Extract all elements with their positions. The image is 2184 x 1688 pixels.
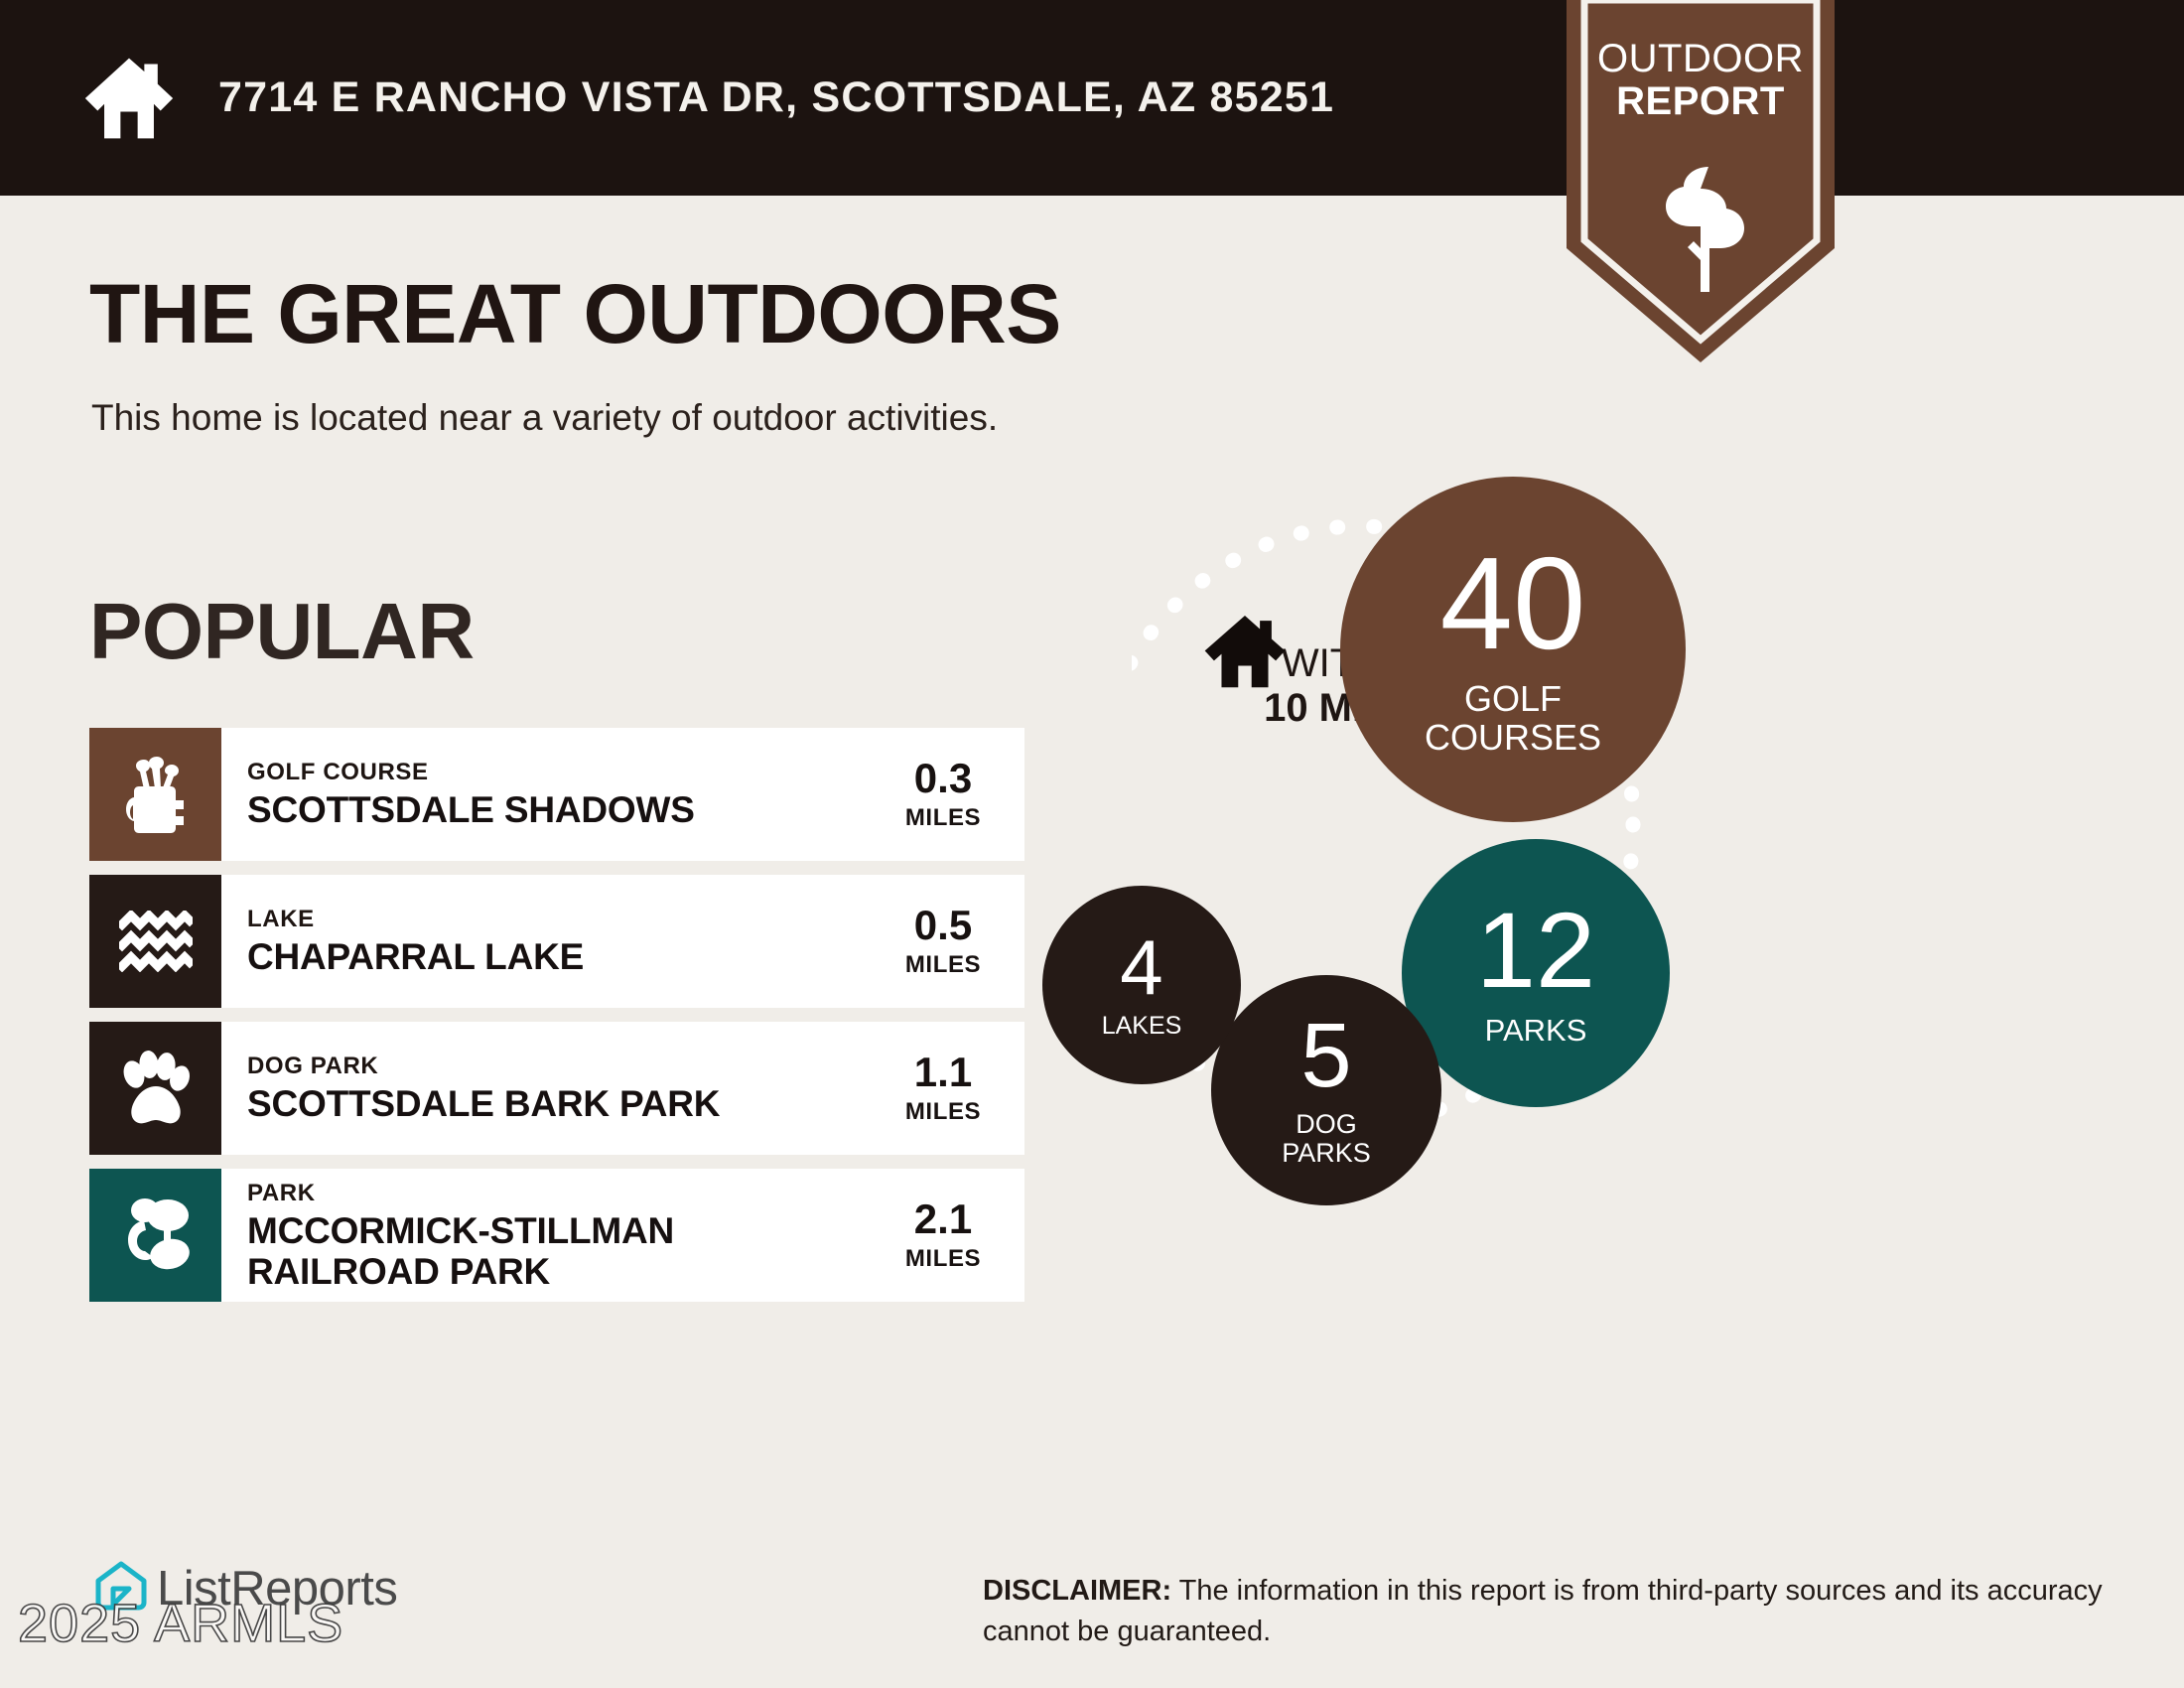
poi-distance: 0.3 MILES [884,758,1021,832]
stat-count: 12 [1476,900,1595,1002]
stat-label-line-1: DOG [1282,1110,1371,1139]
poi-name: CHAPARRAL LAKE [247,937,853,978]
popular-heading: POPULAR [89,586,475,677]
poi-name: SCOTTSDALE BARK PARK [247,1084,853,1125]
stat-count: 4 [1120,930,1162,1004]
stat-label-line-2: COURSES [1425,719,1601,758]
within-10-miles-diagram: WITHIN 10 MILES 40 GOLF COURSES 12 PARKS… [1132,496,2184,1489]
popular-poi-list: GOLF COURSE SCOTTSDALE SHADOWS 0.3 MILES… [89,728,1024,1316]
poi-distance-unit: MILES [884,1245,1003,1273]
stat-label: DOG PARKS [1282,1110,1371,1168]
stat-count: 5 [1300,1013,1351,1099]
house-icon [81,51,177,146]
badge-label: OUTDOOR REPORT [1567,38,1835,123]
poi-distance-unit: MILES [884,1098,1003,1126]
stat-label-line-2: PARKS [1282,1139,1371,1168]
stat-count: 40 [1440,541,1586,665]
outdoor-report-badge: OUTDOOR REPORT [1567,0,1835,362]
poi-distance: 0.5 MILES [884,905,1021,979]
disclaimer-label: DISCLAIMER: [983,1575,1171,1607]
property-address: 7714 E RANCHO VISTA DR, SCOTTSDALE, AZ 8… [218,73,1334,122]
poi-distance: 2.1 MILES [884,1198,1021,1273]
park-trees-icon [89,1169,221,1302]
paw-print-icon [89,1022,221,1155]
disclaimer: DISCLAIMER: The information in this repo… [983,1571,2124,1651]
stat-label-line-1: GOLF [1425,680,1601,719]
list-item[interactable]: PARK MCCORMICK-STILLMAN RAILROAD PARK 2.… [89,1169,1024,1302]
header-bar: 7714 E RANCHO VISTA DR, SCOTTSDALE, AZ 8… [0,0,2184,196]
page-subtitle: This home is located near a variety of o… [91,397,998,439]
poi-distance-value: 1.1 [884,1052,1003,1093]
page-title: THE GREAT OUTDOORS [89,266,1061,362]
list-item[interactable]: GOLF COURSE SCOTTSDALE SHADOWS 0.3 MILES [89,728,1024,861]
poi-category: PARK [247,1179,884,1208]
poi-distance: 1.1 MILES [884,1052,1021,1126]
waves-icon [89,875,221,1008]
list-item[interactable]: LAKE CHAPARRAL LAKE 0.5 MILES [89,875,1024,1008]
badge-line-2: REPORT [1567,80,1835,123]
poi-category: GOLF COURSE [247,758,884,787]
list-item[interactable]: DOG PARK SCOTTSDALE BARK PARK 1.1 MILES [89,1022,1024,1155]
badge-line-1: OUTDOOR [1567,38,1835,80]
poi-category: DOG PARK [247,1052,884,1081]
stat-label: LAKES [1102,1013,1182,1040]
poi-distance-value: 2.1 [884,1198,1003,1240]
stat-bubble-golf-courses[interactable]: 40 GOLF COURSES [1340,477,1686,822]
stat-label: PARKS [1485,1014,1587,1047]
poi-name: SCOTTSDALE SHADOWS [247,790,853,831]
golf-bag-icon [89,728,221,861]
stat-bubble-dog-parks[interactable]: 5 DOG PARKS [1211,975,1441,1205]
poi-category: LAKE [247,905,884,934]
poi-distance-unit: MILES [884,804,1003,832]
armls-watermark: 2025 ARMLS [18,1593,343,1654]
poi-distance-value: 0.5 [884,905,1003,946]
poi-name: MCCORMICK-STILLMAN RAILROAD PARK [247,1211,853,1292]
poi-distance-unit: MILES [884,951,1003,979]
stat-bubble-lakes[interactable]: 4 LAKES [1042,886,1241,1084]
poi-distance-value: 0.3 [884,758,1003,799]
stat-bubble-parks[interactable]: 12 PARKS [1402,839,1670,1107]
stat-label: GOLF COURSES [1425,680,1601,758]
